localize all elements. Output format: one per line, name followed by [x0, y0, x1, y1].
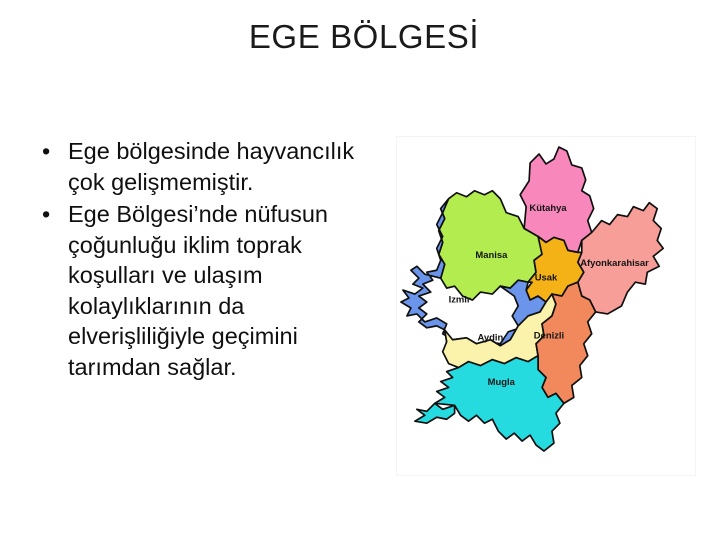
bullet-text: Ege Bölgesi’nde nüfusun çoğunluğu iklim …	[68, 199, 379, 382]
slide-body: • Ege bölgesinde hayvancılık çok gelişme…	[0, 120, 728, 540]
bullet-point-icon: •	[42, 136, 50, 167]
bullet-point-icon: •	[42, 199, 50, 230]
province-label-afyonkarahisar: Afyonkarahisar	[580, 257, 649, 268]
province-label-aydin: Aydin	[477, 331, 503, 342]
map-figure: Kütahya Afyonkarahisar Manisa Usak Izmir…	[396, 136, 696, 476]
bullet-list: • Ege bölgesinde hayvancılık çok gelişme…	[34, 136, 379, 384]
province-label-denizli: Denizli	[534, 329, 564, 340]
page-title: EGE BÖLGESİ	[0, 18, 728, 56]
aegean-region-map: Kütahya Afyonkarahisar Manisa Usak Izmir…	[397, 137, 695, 475]
province-label-usak: Usak	[535, 272, 558, 283]
province-label-kutahya: Kütahya	[529, 202, 567, 213]
province-label-manisa: Manisa	[475, 249, 508, 260]
province-label-izmir: Izmir	[449, 294, 471, 305]
list-item: • Ege bölgesinde hayvancılık çok gelişme…	[34, 136, 379, 197]
slide: EGE BÖLGESİ • Ege bölgesinde hayvancılık…	[0, 0, 728, 546]
bullet-text: Ege bölgesinde hayvancılık çok gelişmemi…	[68, 136, 379, 197]
province-label-mugla: Mugla	[488, 376, 516, 387]
list-item: • Ege Bölgesi’nde nüfusun çoğunluğu ikli…	[34, 199, 379, 382]
